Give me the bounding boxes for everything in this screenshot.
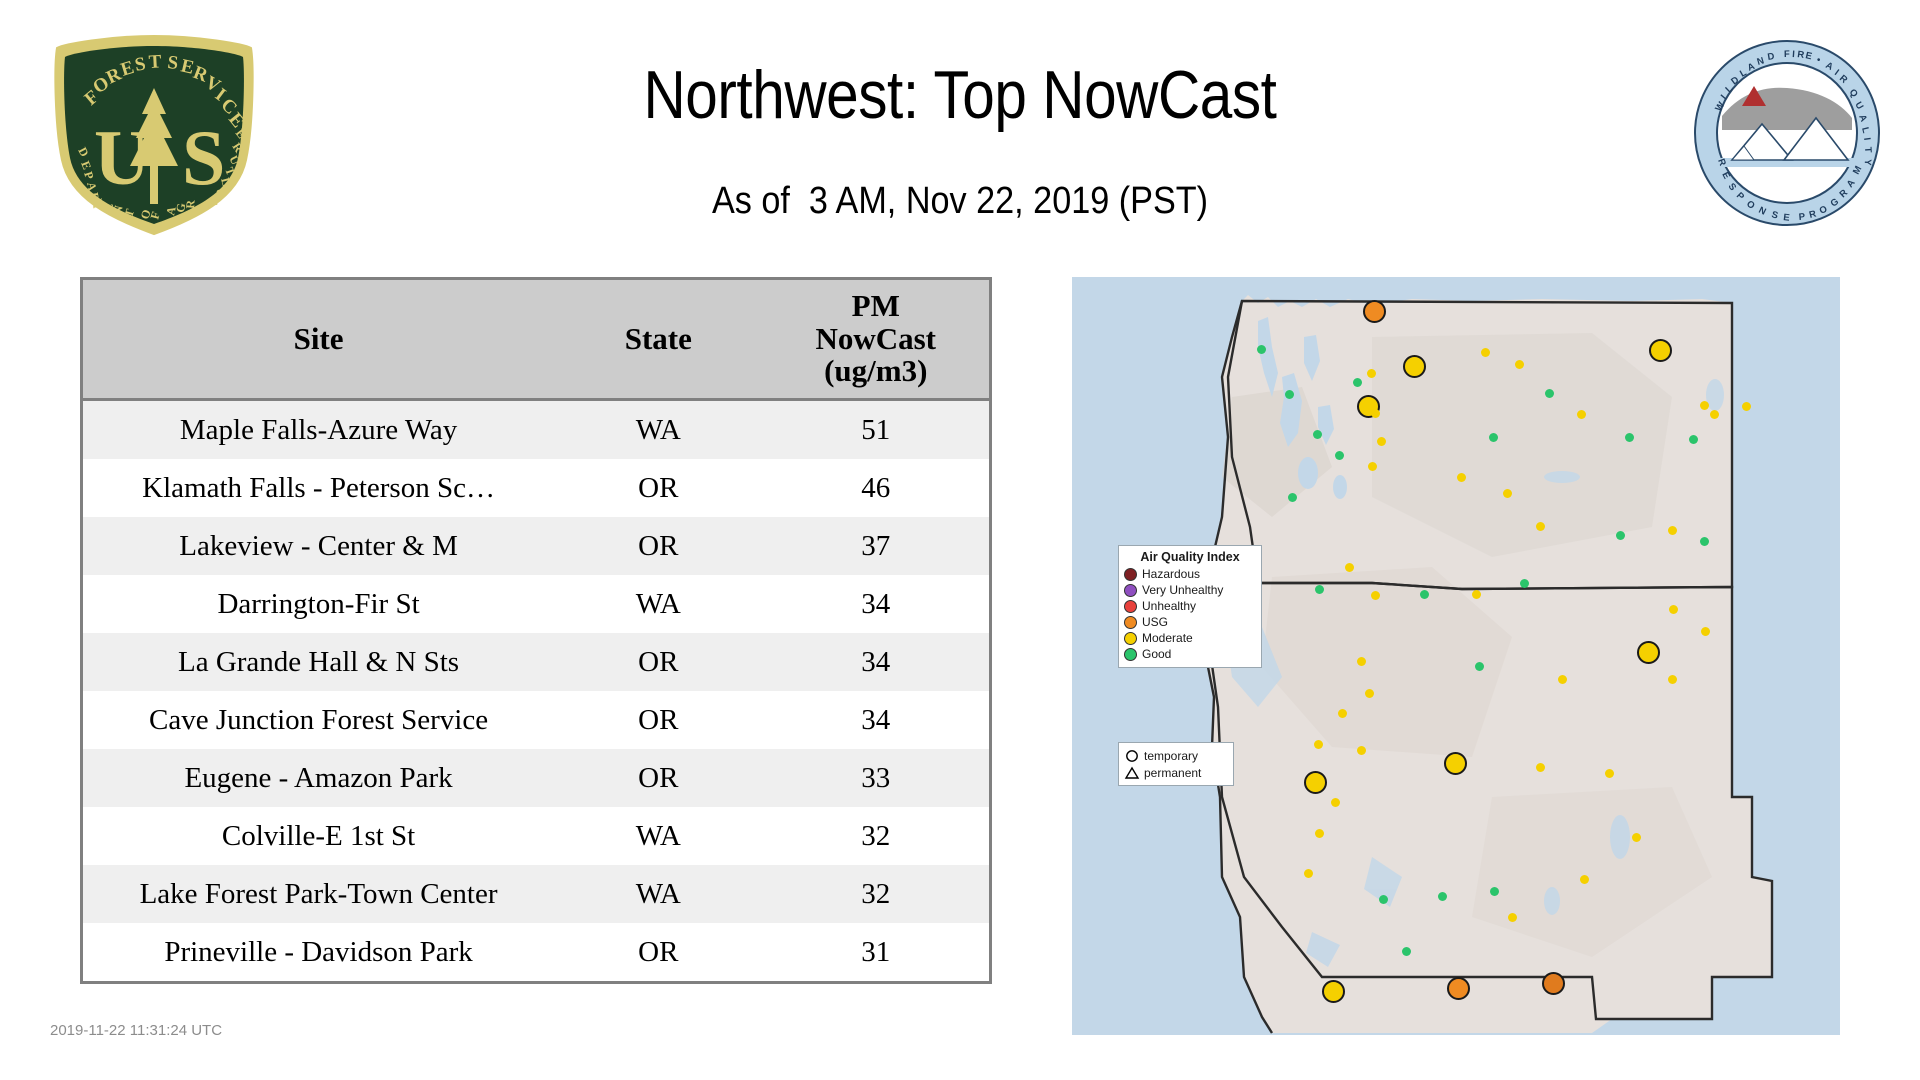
- monitor-dot[interactable]: [1503, 489, 1512, 498]
- svg-text:T: T: [1862, 147, 1873, 154]
- table-cell-site: La Grande Hall & N Sts: [83, 633, 554, 691]
- air-quality-map[interactable]: Air Quality Index HazardousVery Unhealth…: [1072, 277, 1840, 1035]
- table-cell-state: WA: [554, 865, 762, 923]
- monitor-dot[interactable]: [1322, 980, 1345, 1003]
- table-body: Maple Falls-Azure WayWA51Klamath Falls -…: [83, 400, 989, 982]
- column-header-pm-line3: (ug/m3): [762, 355, 989, 388]
- monitor-dot[interactable]: [1304, 869, 1313, 878]
- monitor-dot[interactable]: [1457, 473, 1466, 482]
- table-cell-value: 32: [762, 865, 989, 923]
- aqi-legend-row: USG: [1124, 614, 1256, 630]
- monitor-dot[interactable]: [1257, 345, 1266, 354]
- monitor-dot[interactable]: [1580, 875, 1589, 884]
- monitor-dot[interactable]: [1542, 972, 1565, 995]
- nowcast-table: Site State PM NowCast (ug/m3) Maple Fall…: [83, 280, 989, 981]
- table-cell-value: 33: [762, 749, 989, 807]
- aqi-legend-swatch-icon: [1124, 568, 1137, 581]
- column-header-pm-line2: NowCast: [762, 323, 989, 356]
- aqi-legend-label: Very Unhealthy: [1142, 584, 1223, 596]
- monitor-dot[interactable]: [1545, 389, 1554, 398]
- monitor-dot[interactable]: [1742, 402, 1751, 411]
- monitor-dot[interactable]: [1689, 435, 1698, 444]
- table-cell-site: Lake Forest Park-Town Center: [83, 865, 554, 923]
- aqi-legend-row: Very Unhealthy: [1124, 582, 1256, 598]
- table-cell-value: 37: [762, 517, 989, 575]
- table-cell-state: WA: [554, 400, 762, 460]
- monitor-dot[interactable]: [1288, 493, 1297, 502]
- symbol-legend: temporary permanent: [1118, 742, 1234, 786]
- monitor-dot[interactable]: [1700, 401, 1709, 410]
- table-cell-value: 34: [762, 691, 989, 749]
- monitor-dot[interactable]: [1710, 410, 1719, 419]
- table-row[interactable]: Klamath Falls - Peterson Sc…OR46: [83, 459, 989, 517]
- monitor-dot[interactable]: [1649, 339, 1672, 362]
- monitor-dot[interactable]: [1701, 627, 1710, 636]
- monitor-dot[interactable]: [1447, 977, 1470, 1000]
- footer-timestamp: 2019-11-22 11:31:24 UTC: [50, 1022, 222, 1039]
- permanent-triangle-icon: [1124, 766, 1140, 780]
- monitor-dot[interactable]: [1420, 590, 1429, 599]
- monitor-dot[interactable]: [1536, 763, 1545, 772]
- monitor-dot[interactable]: [1365, 689, 1374, 698]
- page-title: Northwest: Top NowCast: [134, 56, 1785, 134]
- table-header: Site State PM NowCast (ug/m3): [83, 280, 989, 400]
- monitor-dot[interactable]: [1313, 430, 1322, 439]
- monitor-dot[interactable]: [1668, 675, 1677, 684]
- monitor-dot[interactable]: [1371, 591, 1380, 600]
- monitor-dot[interactable]: [1481, 348, 1490, 357]
- table-cell-state: WA: [554, 575, 762, 633]
- column-header-state[interactable]: State: [554, 280, 762, 400]
- table-cell-state: WA: [554, 807, 762, 865]
- monitor-dot[interactable]: [1335, 451, 1344, 460]
- nowcast-table-panel: Site State PM NowCast (ug/m3) Maple Fall…: [80, 277, 992, 984]
- table-cell-state: OR: [554, 691, 762, 749]
- monitor-dot[interactable]: [1616, 531, 1625, 540]
- symbol-legend-label-temporary: temporary: [1144, 750, 1198, 762]
- table-cell-site: Klamath Falls - Peterson Sc…: [83, 459, 554, 517]
- aqi-legend-swatch-icon: [1124, 584, 1137, 597]
- monitor-dot[interactable]: [1438, 892, 1447, 901]
- monitor-dot[interactable]: [1700, 537, 1709, 546]
- aqi-legend-label: Unhealthy: [1142, 600, 1196, 612]
- aqi-legend-label: USG: [1142, 616, 1168, 628]
- table-row[interactable]: Lakeview - Center & MOR37: [83, 517, 989, 575]
- monitor-dot[interactable]: [1314, 740, 1323, 749]
- table-cell-site: Darrington-Fir St: [83, 575, 554, 633]
- table-cell-value: 46: [762, 459, 989, 517]
- table-cell-state: OR: [554, 517, 762, 575]
- monitor-dot[interactable]: [1377, 437, 1386, 446]
- aqi-legend-row: Unhealthy: [1124, 598, 1256, 614]
- monitor-dot[interactable]: [1508, 913, 1517, 922]
- column-header-pm-nowcast[interactable]: PM NowCast (ug/m3): [762, 280, 989, 400]
- monitor-dot[interactable]: [1625, 433, 1634, 442]
- table-row[interactable]: La Grande Hall & N StsOR34: [83, 633, 989, 691]
- monitor-dot[interactable]: [1515, 360, 1524, 369]
- monitor-dot[interactable]: [1357, 746, 1366, 755]
- table-cell-value: 34: [762, 633, 989, 691]
- monitor-dot[interactable]: [1285, 390, 1294, 399]
- monitor-dot[interactable]: [1536, 522, 1545, 531]
- monitor-dot[interactable]: [1371, 409, 1380, 418]
- aqi-legend-items: HazardousVery UnhealthyUnhealthyUSGModer…: [1124, 566, 1256, 662]
- symbol-legend-label-permanent: permanent: [1144, 767, 1201, 779]
- aqi-legend-row: Good: [1124, 646, 1256, 662]
- monitor-dot[interactable]: [1315, 829, 1324, 838]
- table-cell-site: Colville-E 1st St: [83, 807, 554, 865]
- table-cell-site: Cave Junction Forest Service: [83, 691, 554, 749]
- monitor-dot[interactable]: [1403, 355, 1426, 378]
- monitor-dot[interactable]: [1367, 369, 1376, 378]
- table-cell-value: 34: [762, 575, 989, 633]
- aqi-legend-label: Hazardous: [1142, 568, 1200, 580]
- monitor-dot[interactable]: [1475, 662, 1484, 671]
- monitor-dot[interactable]: [1669, 605, 1678, 614]
- monitor-dot[interactable]: [1368, 462, 1377, 471]
- monitor-dot[interactable]: [1490, 887, 1499, 896]
- table-cell-value: 51: [762, 400, 989, 460]
- aqi-legend-swatch-icon: [1124, 616, 1137, 629]
- monitor-dot[interactable]: [1668, 526, 1677, 535]
- table-row[interactable]: Maple Falls-Azure WayWA51: [83, 400, 989, 460]
- monitor-dot[interactable]: [1402, 947, 1411, 956]
- monitor-dot[interactable]: [1331, 798, 1340, 807]
- aqi-legend: Air Quality Index HazardousVery Unhealth…: [1118, 545, 1262, 668]
- monitor-dot[interactable]: [1489, 433, 1498, 442]
- aqi-legend-row: Hazardous: [1124, 566, 1256, 582]
- column-header-pm-line1: PM: [762, 290, 989, 323]
- monitor-dot[interactable]: [1520, 579, 1529, 588]
- aqi-legend-label: Moderate: [1142, 632, 1193, 644]
- aqi-legend-title: Air Quality Index: [1124, 550, 1256, 564]
- table-cell-state: OR: [554, 923, 762, 981]
- monitor-dot[interactable]: [1605, 769, 1614, 778]
- monitor-dot[interactable]: [1353, 378, 1362, 387]
- column-header-site[interactable]: Site: [83, 280, 554, 400]
- table-cell-value: 31: [762, 923, 989, 981]
- page-subtitle: As of 3 AM, Nov 22, 2019 (PST): [96, 180, 1824, 223]
- table-cell-site: Eugene - Amazon Park: [83, 749, 554, 807]
- monitor-dot[interactable]: [1357, 657, 1366, 666]
- aqi-legend-swatch-icon: [1124, 648, 1137, 661]
- monitor-dot[interactable]: [1637, 641, 1660, 664]
- table-cell-state: OR: [554, 633, 762, 691]
- monitor-dot[interactable]: [1345, 563, 1354, 572]
- monitor-dot[interactable]: [1632, 833, 1641, 842]
- table-cell-state: OR: [554, 749, 762, 807]
- monitor-dot[interactable]: [1444, 752, 1467, 775]
- table-cell-site: Maple Falls-Azure Way: [83, 400, 554, 460]
- symbol-legend-row-permanent: permanent: [1124, 764, 1228, 781]
- table-cell-site: Lakeview - Center & M: [83, 517, 554, 575]
- monitor-dot[interactable]: [1363, 300, 1386, 323]
- table-row[interactable]: Cave Junction Forest ServiceOR34: [83, 691, 989, 749]
- table-row[interactable]: Eugene - Amazon ParkOR33: [83, 749, 989, 807]
- table-row[interactable]: Lake Forest Park-Town CenterWA32: [83, 865, 989, 923]
- monitor-dot[interactable]: [1577, 410, 1586, 419]
- table-row[interactable]: Darrington-Fir StWA34: [83, 575, 989, 633]
- monitor-dot[interactable]: [1338, 709, 1347, 718]
- table-cell-site: Prineville - Davidson Park: [83, 923, 554, 981]
- aqi-legend-swatch-icon: [1124, 632, 1137, 645]
- aqi-legend-label: Good: [1142, 648, 1171, 660]
- symbol-legend-row-temporary: temporary: [1124, 747, 1228, 764]
- monitor-dot[interactable]: [1472, 590, 1481, 599]
- table-header-row: Site State PM NowCast (ug/m3): [83, 280, 989, 400]
- table-cell-value: 32: [762, 807, 989, 865]
- table-row[interactable]: Prineville - Davidson ParkOR31: [83, 923, 989, 981]
- monitor-dot[interactable]: [1379, 895, 1388, 904]
- monitor-dot[interactable]: [1304, 771, 1327, 794]
- table-row[interactable]: Colville-E 1st StWA32: [83, 807, 989, 865]
- monitor-dot[interactable]: [1558, 675, 1567, 684]
- aqi-legend-swatch-icon: [1124, 600, 1137, 613]
- temporary-circle-icon: [1124, 749, 1140, 763]
- table-cell-state: OR: [554, 459, 762, 517]
- aqi-legend-row: Moderate: [1124, 630, 1256, 646]
- monitor-dot[interactable]: [1315, 585, 1324, 594]
